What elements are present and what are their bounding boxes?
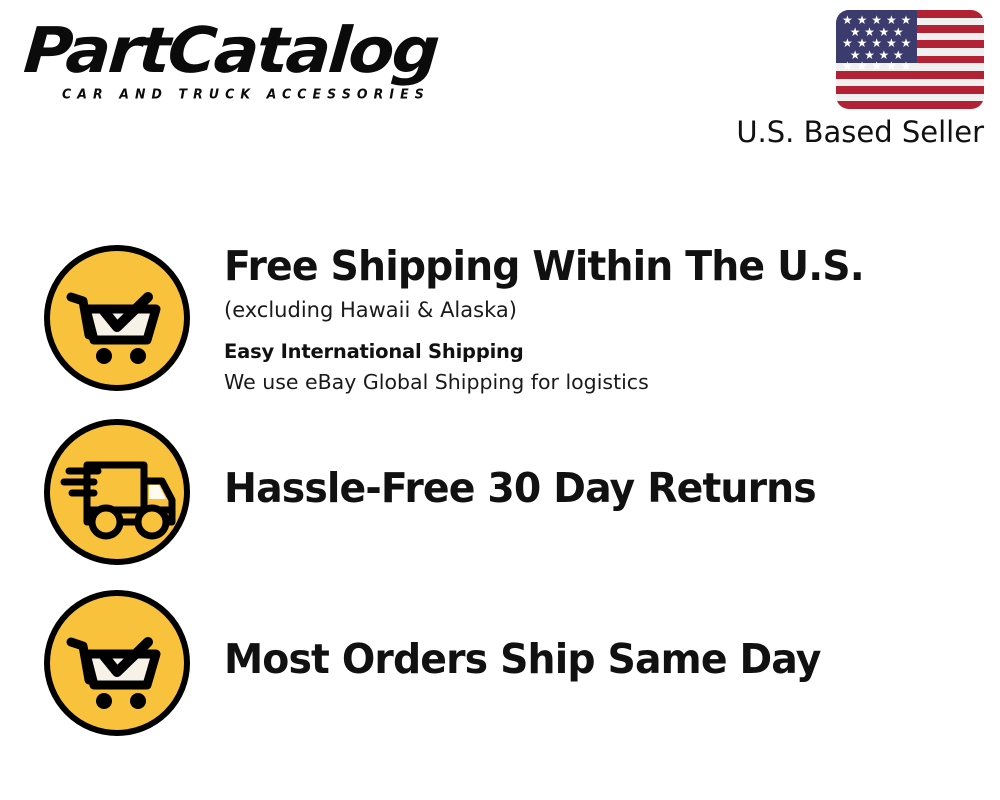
feature-subtext: (excluding Hawaii & Alaska) bbox=[224, 295, 891, 325]
brand-tagline: CAR AND TRUCK ACCESSORIES bbox=[62, 86, 494, 102]
brand-wordmark: PartCatalog bbox=[22, 18, 525, 84]
feature-text-returns: Hassle-Free 30 Day Returns bbox=[224, 417, 841, 511]
seller-badge-label: U.S. Based Seller bbox=[706, 115, 984, 149]
star-icon: ★ bbox=[886, 61, 897, 72]
feature-heading: Hassle-Free 30 Day Returns bbox=[224, 465, 816, 511]
feature-row-returns: Hassle-Free 30 Day Returns bbox=[0, 417, 1000, 567]
flag-stripe bbox=[836, 79, 984, 87]
feature-row-free-shipping: Free Shipping Within The U.S. (excluding… bbox=[0, 243, 1000, 396]
star-icon: ★ bbox=[871, 61, 882, 72]
flag-stripe bbox=[836, 94, 984, 102]
star-icon: ★ bbox=[901, 61, 912, 72]
flag-star-row: ★ ★ ★ ★ ★ bbox=[836, 38, 917, 50]
star-icon: ★ bbox=[857, 61, 868, 72]
shopping-cart-check-icon bbox=[42, 588, 192, 738]
flag-star-row: ★ ★ ★ ★ ★ bbox=[836, 61, 917, 73]
seller-badge: ★ ★ ★ ★ ★ ★ ★ ★ ★ ★ ★ ★ ★ ★ ★ ★ bbox=[706, 10, 986, 149]
flag-stripe bbox=[836, 101, 984, 109]
brand-logo: PartCatalog CAR AND TRUCK ACCESSORIES bbox=[24, 18, 494, 101]
feature-subheading: Easy International Shipping bbox=[224, 339, 891, 365]
delivery-truck-icon bbox=[42, 417, 192, 567]
feature-text-free-shipping: Free Shipping Within The U.S. (excluding… bbox=[224, 243, 891, 396]
feature-text-same-day: Most Orders Ship Same Day bbox=[224, 588, 845, 682]
us-flag-icon: ★ ★ ★ ★ ★ ★ ★ ★ ★ ★ ★ ★ ★ ★ ★ ★ bbox=[836, 10, 984, 109]
shopping-cart-check-icon bbox=[42, 243, 192, 393]
flag-canton: ★ ★ ★ ★ ★ ★ ★ ★ ★ ★ ★ ★ ★ ★ ★ ★ bbox=[836, 10, 917, 63]
flag-stripe bbox=[836, 86, 984, 94]
flag-star-row: ★ ★ ★ ★ ★ bbox=[836, 15, 917, 27]
feature-heading: Free Shipping Within The U.S. bbox=[224, 243, 864, 289]
feature-row-same-day-shipping: Most Orders Ship Same Day bbox=[0, 588, 1000, 738]
feature-heading: Most Orders Ship Same Day bbox=[224, 636, 821, 682]
star-icon: ★ bbox=[842, 61, 853, 72]
feature-body: We use eBay Global Shipping for logistic… bbox=[224, 368, 891, 396]
